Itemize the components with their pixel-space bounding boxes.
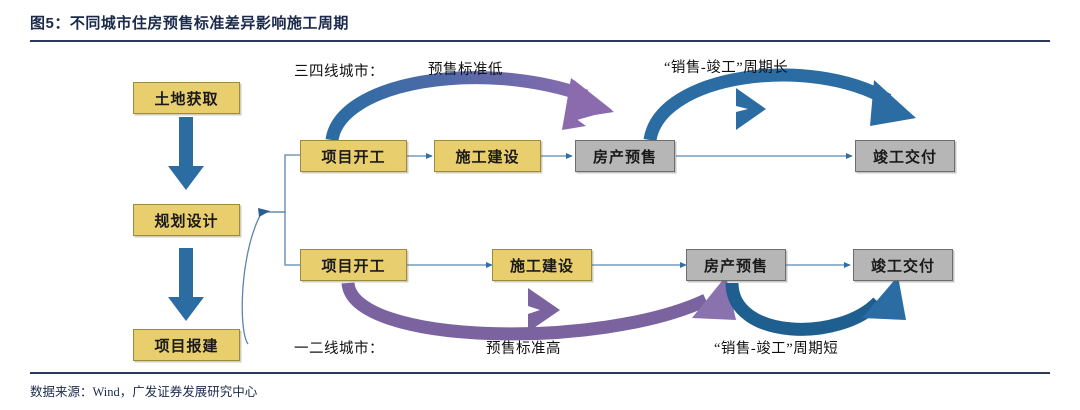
bottom-node-presale[interactable]: 房产预售 — [686, 249, 786, 281]
node-project-filing[interactable]: 项目报建 — [133, 329, 240, 361]
top-arc-presale-to-delivery — [650, 75, 916, 140]
node-label: 竣工交付 — [871, 255, 935, 276]
arrow-land-to-plan — [168, 117, 204, 190]
node-label: 项目开工 — [321, 255, 385, 276]
top-caption-city-tier: 三四线城市： — [294, 60, 384, 81]
top-node-presale[interactable]: 房产预售 — [575, 140, 675, 172]
branch-connector — [242, 155, 300, 344]
node-label: 项目报建 — [154, 335, 218, 356]
bottom-caption-city-tier: 一二线城市： — [294, 337, 384, 358]
node-planning-design[interactable]: 规划设计 — [133, 204, 240, 236]
figure-container: 图5：不同城市住房预售标准差异影响施工周期 数据来源：Wind，广发证券发展研究… — [0, 0, 1080, 410]
top-node-delivery[interactable]: 竣工交付 — [855, 140, 955, 172]
bottom-node-delivery[interactable]: 竣工交付 — [853, 249, 953, 281]
node-label: 土地获取 — [154, 88, 218, 109]
node-label: 规划设计 — [154, 210, 218, 231]
node-label: 施工建设 — [455, 146, 519, 167]
arrow-plan-to-filing — [168, 248, 204, 321]
top-caption-cycle: “销售-竣工”周期长 — [664, 56, 788, 77]
node-label: 竣工交付 — [873, 146, 937, 167]
bottom-caption-presale-standard: 预售标准高 — [486, 337, 561, 358]
bottom-chevron-right-marker — [528, 288, 560, 332]
node-label: 房产预售 — [593, 146, 657, 167]
node-land-acquisition[interactable]: 土地获取 — [133, 82, 240, 114]
node-label: 施工建设 — [510, 255, 574, 276]
bottom-arc-presale-to-delivery — [732, 276, 906, 329]
top-chevron-right-marker — [736, 88, 766, 130]
node-label: 房产预售 — [704, 255, 768, 276]
bottom-node-construction-start[interactable]: 项目开工 — [300, 249, 407, 281]
top-node-construction-start[interactable]: 项目开工 — [300, 140, 407, 172]
top-caption-presale-standard: 预售标准低 — [428, 58, 503, 79]
bottom-node-construction[interactable]: 施工建设 — [492, 249, 592, 281]
node-label: 项目开工 — [321, 146, 385, 167]
bottom-caption-cycle: “销售-竣工”周期短 — [714, 337, 838, 358]
top-arc-start-to-presale — [332, 78, 614, 140]
top-node-construction[interactable]: 施工建设 — [434, 140, 541, 172]
